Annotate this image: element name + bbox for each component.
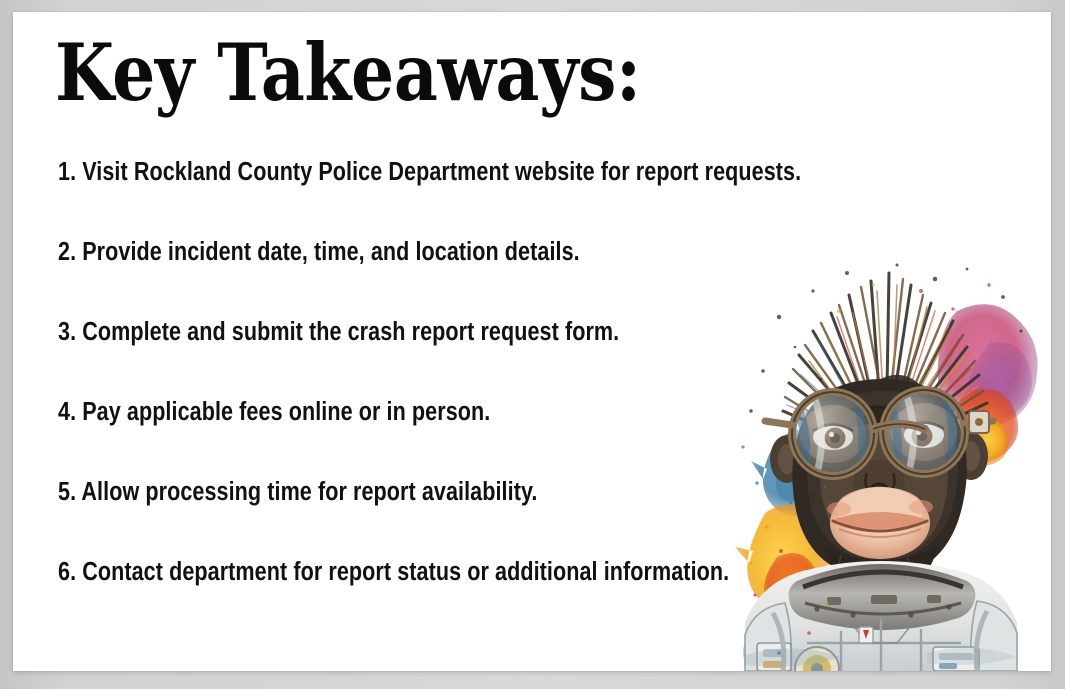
list-item: 5. Allow processing time for report avai… bbox=[58, 480, 768, 506]
list-item: 4. Pay applicable fees online or in pers… bbox=[58, 400, 768, 426]
list-item: 2. Provide incident date, time, and loca… bbox=[58, 240, 768, 266]
page-title: Key Takeaways: bbox=[55, 32, 641, 115]
slide-root: Key Takeaways: 1. Visit Rockland County … bbox=[0, 0, 1065, 689]
list-item: 6. Contact department for report status … bbox=[58, 560, 768, 586]
key-takeaways-list: 1. Visit Rockland County Police Departme… bbox=[58, 160, 898, 586]
right-eye bbox=[904, 422, 944, 448]
slide-card: Key Takeaways: 1. Visit Rockland County … bbox=[13, 12, 1051, 671]
list-item: 1. Visit Rockland County Police Departme… bbox=[58, 160, 768, 186]
list-item: 3. Complete and submit the crash report … bbox=[58, 320, 768, 346]
